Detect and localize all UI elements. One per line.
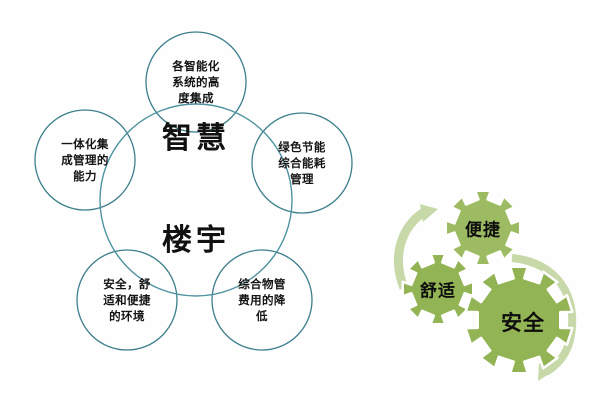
gear-label-safety: 安全 <box>501 307 545 337</box>
gear-label-comfort: 舒适 <box>420 277 456 302</box>
diagram-canvas: 智慧 楼宇 各智能化 系统的高 度集成 绿色节能 综合能耗 管理 综合物管 费用… <box>0 0 600 400</box>
gear-cluster <box>0 0 600 400</box>
gear-label-convenience: 便捷 <box>465 216 501 241</box>
